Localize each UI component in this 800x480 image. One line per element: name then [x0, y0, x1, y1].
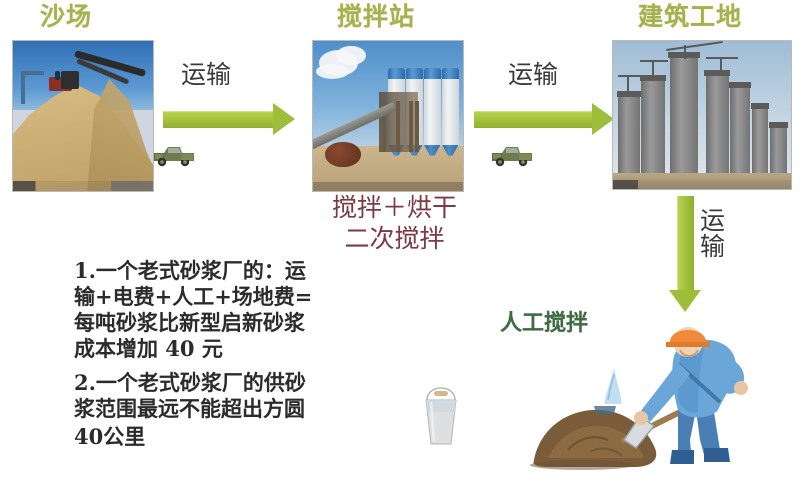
storage-tank-layer [325, 142, 361, 168]
building-tower [770, 127, 788, 173]
worker-shoveling-icon [528, 300, 778, 480]
photo-watermark-strip [13, 181, 153, 192]
bucket-icon [418, 378, 464, 450]
mast-layer [21, 71, 25, 104]
mast-arm-layer [21, 71, 43, 75]
arrow-head-transport-2 [592, 103, 614, 135]
caption-second-mixing: 二次搅拌 [312, 225, 477, 254]
arrow-head-transport-1 [273, 103, 295, 135]
building-tower [641, 80, 664, 173]
note-line-4: 成本增加 40 元 [74, 336, 223, 362]
crane-jib [618, 75, 643, 77]
building-tower [618, 96, 639, 173]
photo-sand-yard [12, 40, 154, 192]
building-tower [752, 108, 768, 173]
flow-label-transport-1: 运输 [181, 62, 231, 87]
note-line-5: 2.一个老式砂浆厂的供砂 [74, 370, 306, 396]
cloud-layer [336, 46, 366, 66]
note-line-3: 每吨砂浆比新型启新砂浆 [74, 310, 305, 336]
arrow-transport-3 [677, 196, 694, 292]
building-tower [730, 87, 750, 173]
crane-jib [706, 57, 738, 59]
crane-mast [652, 60, 654, 79]
caption-mixing-drying: 搅拌＋烘干 [312, 194, 477, 223]
machine-body-layer [61, 71, 79, 89]
water-splash-icon [594, 368, 622, 414]
flow-label-transport-2: 运输 [508, 62, 558, 87]
stage-title-sand-yard: 沙场 [40, 4, 92, 29]
arrow-transport-1 [163, 111, 275, 128]
truck-icon [152, 143, 196, 169]
crane-mast [627, 75, 629, 96]
cloud-layer [316, 64, 349, 79]
note-line-1: 1.一个老式砂浆厂的：运 [74, 258, 306, 284]
tower-leg-layer [409, 101, 413, 152]
photo-mixing-station [312, 40, 464, 192]
crane-mast [720, 57, 722, 75]
silo-layer [424, 77, 441, 146]
worker-figure-layer [55, 71, 60, 80]
building-tower [670, 57, 698, 172]
note-line-2: 输+电费+人工+场地费= [74, 284, 312, 310]
note-line-7: 40公里 [74, 424, 145, 450]
flow-diagram-canvas: 沙场 运输 搅拌站 [0, 0, 800, 480]
arrow-transport-2 [474, 111, 594, 128]
building-tower [706, 75, 729, 173]
truck-icon [490, 143, 534, 169]
note-line-6: 浆范围最远不能超出方圆 [74, 396, 305, 422]
tower-leg-layer [415, 101, 419, 152]
stage-title-construction-site: 建筑工地 [638, 4, 742, 29]
flow-label-transport-3: 运输 [700, 208, 725, 261]
silo-layer [442, 77, 459, 146]
photo-construction-site [612, 40, 792, 190]
photo-watermark-strip [613, 180, 791, 189]
photo-watermark-strip [313, 182, 463, 191]
stage-title-mixing-station: 搅拌站 [337, 4, 415, 29]
crane-jib [640, 60, 668, 62]
